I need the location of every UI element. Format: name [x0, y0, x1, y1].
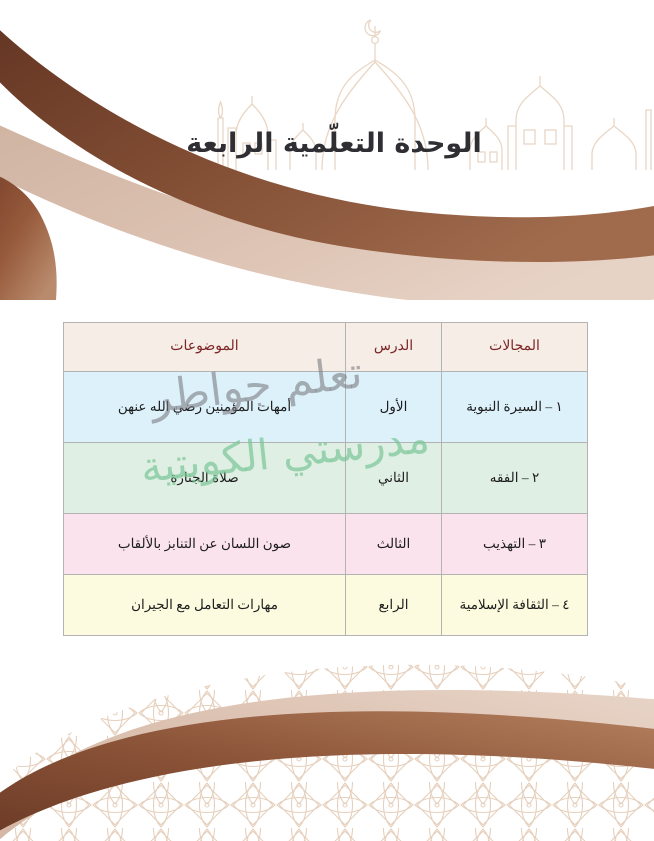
unit-overview-table: المجالات الدرس الموضوعات ١ – السيرة النب…: [63, 322, 588, 636]
table-header-row: المجالات الدرس الموضوعات: [64, 323, 588, 372]
cell-lesson: الثاني: [346, 443, 442, 514]
footer-wave-light: [0, 690, 654, 841]
table-row: ٢ – الفقه الثاني صلاة الجنازة: [64, 443, 588, 514]
cell-domain: ١ – السيرة النبوية: [442, 372, 588, 443]
cell-domain: ٢ – الفقه: [442, 443, 588, 514]
cell-topics: صلاة الجنازة: [64, 443, 346, 514]
footer-wave-dark: [0, 711, 654, 836]
cell-lesson: الأول: [346, 372, 442, 443]
column-header-domain: المجالات: [442, 323, 588, 372]
unit-table-container: المجالات الدرس الموضوعات ١ – السيرة النب…: [64, 322, 588, 636]
cell-lesson: الرابع: [346, 575, 442, 636]
column-header-topics: الموضوعات: [64, 323, 346, 372]
page-title-container: الوحدة التعلّمية الرابعة: [0, 128, 654, 159]
crescent-icon: [365, 20, 381, 36]
footer-decoration-group: [0, 630, 654, 841]
table-header: المجالات الدرس الموضوعات: [64, 323, 588, 372]
cell-topics: مهارات التعامل مع الجيران: [64, 575, 346, 636]
cell-domain: ٣ – التهذيب: [442, 514, 588, 575]
table-row: ١ – السيرة النبوية الأول أمهات المؤمنين …: [64, 372, 588, 443]
cell-lesson: الثالث: [346, 514, 442, 575]
header-wave-tail: [0, 168, 57, 300]
column-header-lesson: الدرس: [346, 323, 442, 372]
page-title: الوحدة التعلّمية الرابعة: [172, 128, 481, 159]
cell-topics: أمهات المؤمنين رضي الله عنهن: [64, 372, 346, 443]
document-page: الوحدة التعلّمية الرابعة المجالات الدرس …: [0, 0, 654, 841]
table-row: ٤ – الثقافة الإسلامية الرابع مهارات التع…: [64, 575, 588, 636]
islamic-geometric-pattern-icon: [0, 630, 654, 841]
table-body: ١ – السيرة النبوية الأول أمهات المؤمنين …: [64, 372, 588, 636]
table-row: ٣ – التهذيب الثالث صون اللسان عن التنابز…: [64, 514, 588, 575]
cell-domain: ٤ – الثقافة الإسلامية: [442, 575, 588, 636]
cell-topics: صون اللسان عن التنابز بالألقاب: [64, 514, 346, 575]
